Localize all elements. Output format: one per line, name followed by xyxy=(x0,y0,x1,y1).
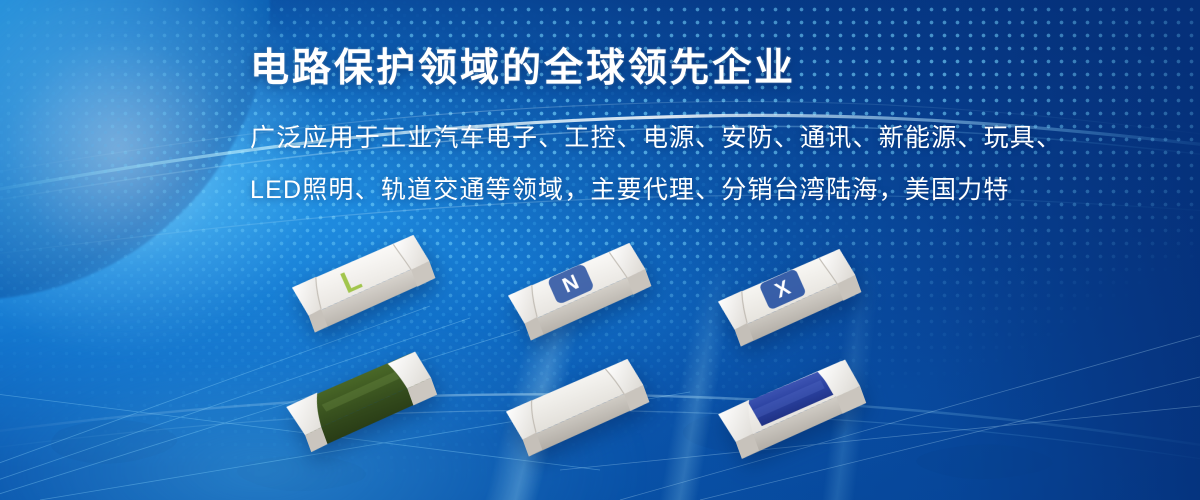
banner-subtitle: 广泛应用于工业汽车电子、工控、电源、安防、通讯、新能源、玩具、 LED照明、轨道… xyxy=(250,92,1040,216)
subtitle-line-2: LED照明、轨道交通等领域，主要代理、分销台湾陆海，美国力特 xyxy=(250,164,1040,216)
product-item[interactable]: X xyxy=(690,250,896,366)
subtitle-line-1: 广泛应用于工业汽车电子、工控、电源、安防、通讯、新能源、玩具、 xyxy=(250,112,1040,164)
smd-fuse-green-l[interactable]: L xyxy=(275,227,447,347)
product-item[interactable] xyxy=(692,362,898,478)
product-gallery: L xyxy=(262,236,902,474)
smd-fuse-plain[interactable] xyxy=(489,351,661,471)
product-item[interactable]: N xyxy=(480,244,686,360)
hero-banner: 电路保护领域的全球领先企业 广泛应用于工业汽车电子、工控、电源、安防、通讯、新能… xyxy=(0,0,1200,500)
banner-copy: 电路保护领域的全球领先企业 广泛应用于工业汽车电子、工控、电源、安防、通讯、新能… xyxy=(250,46,1040,216)
product-item[interactable] xyxy=(478,360,684,476)
smd-fuse-blue-n[interactable]: N xyxy=(491,235,663,355)
page-title: 电路保护领域的全球领先企业 xyxy=(250,46,1040,92)
smd-fuse-olive[interactable] xyxy=(273,345,445,465)
smd-fuse-blue-x[interactable]: X xyxy=(701,241,873,361)
product-item[interactable] xyxy=(262,354,468,470)
smd-fuse-navy[interactable] xyxy=(703,353,875,473)
product-item[interactable]: L xyxy=(264,236,470,352)
